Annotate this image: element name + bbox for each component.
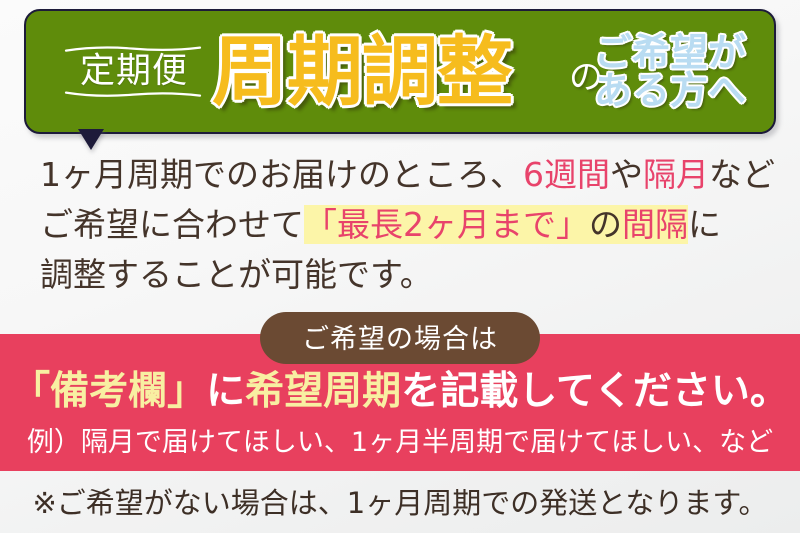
- banner-seg2: に: [206, 369, 245, 414]
- footer-note: ※ご希望がない場合は、1ヶ月周期での発送となります。: [0, 480, 800, 522]
- wish-callout-line1: ご希望が: [594, 33, 746, 72]
- wish-case-pill-badge: ご希望の場合は: [260, 312, 540, 364]
- body-l1-accent-bimonthly: 隔月: [643, 155, 709, 194]
- subscription-badge: 定期便: [64, 44, 204, 99]
- body-l1-seg3: や: [610, 155, 643, 194]
- wavy-line-bottom-icon: [64, 90, 202, 99]
- banner-accent-remarks-field: 「備考欄」: [11, 369, 206, 414]
- subscription-badge-label: 定期便: [64, 53, 204, 90]
- speech-bubble-tail: [80, 131, 102, 149]
- body-l2-seg3: の: [589, 205, 622, 244]
- body-l1-seg5: など: [709, 155, 775, 194]
- body-line-3: 調整することが可能です。: [40, 250, 770, 300]
- banner-instruction-text: 「備考欄」に希望周期を記載してください。: [0, 360, 800, 416]
- banner-seg4: を記載してください。: [401, 369, 789, 414]
- banner-example-text: 例）隔月で届けてほしい、1ヶ月半周期で届けてほしい、など: [0, 420, 800, 459]
- body-l2-seg5: に: [688, 205, 721, 244]
- body-l2-accent-maxtwomonths: 「最長2ヶ月まで」: [304, 205, 589, 244]
- body-paragraph: 1ヶ月周期でのお届けのところ、6週間や隔月など ご希望に合わせて「最長2ヶ月まで…: [40, 150, 770, 300]
- body-line-1: 1ヶ月周期でのお届けのところ、6週間や隔月など: [40, 150, 770, 200]
- body-l1-accent-6weeks: 6週間: [523, 155, 610, 194]
- wish-callout-line2: ある方へ: [594, 72, 746, 111]
- body-l2-accent-interval: 間隔: [622, 205, 688, 244]
- page-title: 周期調整: [212, 34, 512, 110]
- body-l1-seg1: 1ヶ月周期でのお届けのところ、: [40, 155, 523, 194]
- promo-banner-page: { "header": { "badge_label": "定期便", "mai…: [0, 0, 800, 533]
- banner-accent-desired-cycle: 希望周期: [245, 369, 401, 414]
- body-l2-seg1: ご希望に合わせて: [40, 205, 304, 244]
- body-line-2: ご希望に合わせて「最長2ヶ月まで」の間隔に: [40, 200, 770, 250]
- wish-callout: ご希望が ある方へ: [594, 33, 746, 111]
- header-green-bubble: 定期便 周期調整 の ご希望が ある方へ: [24, 9, 776, 134]
